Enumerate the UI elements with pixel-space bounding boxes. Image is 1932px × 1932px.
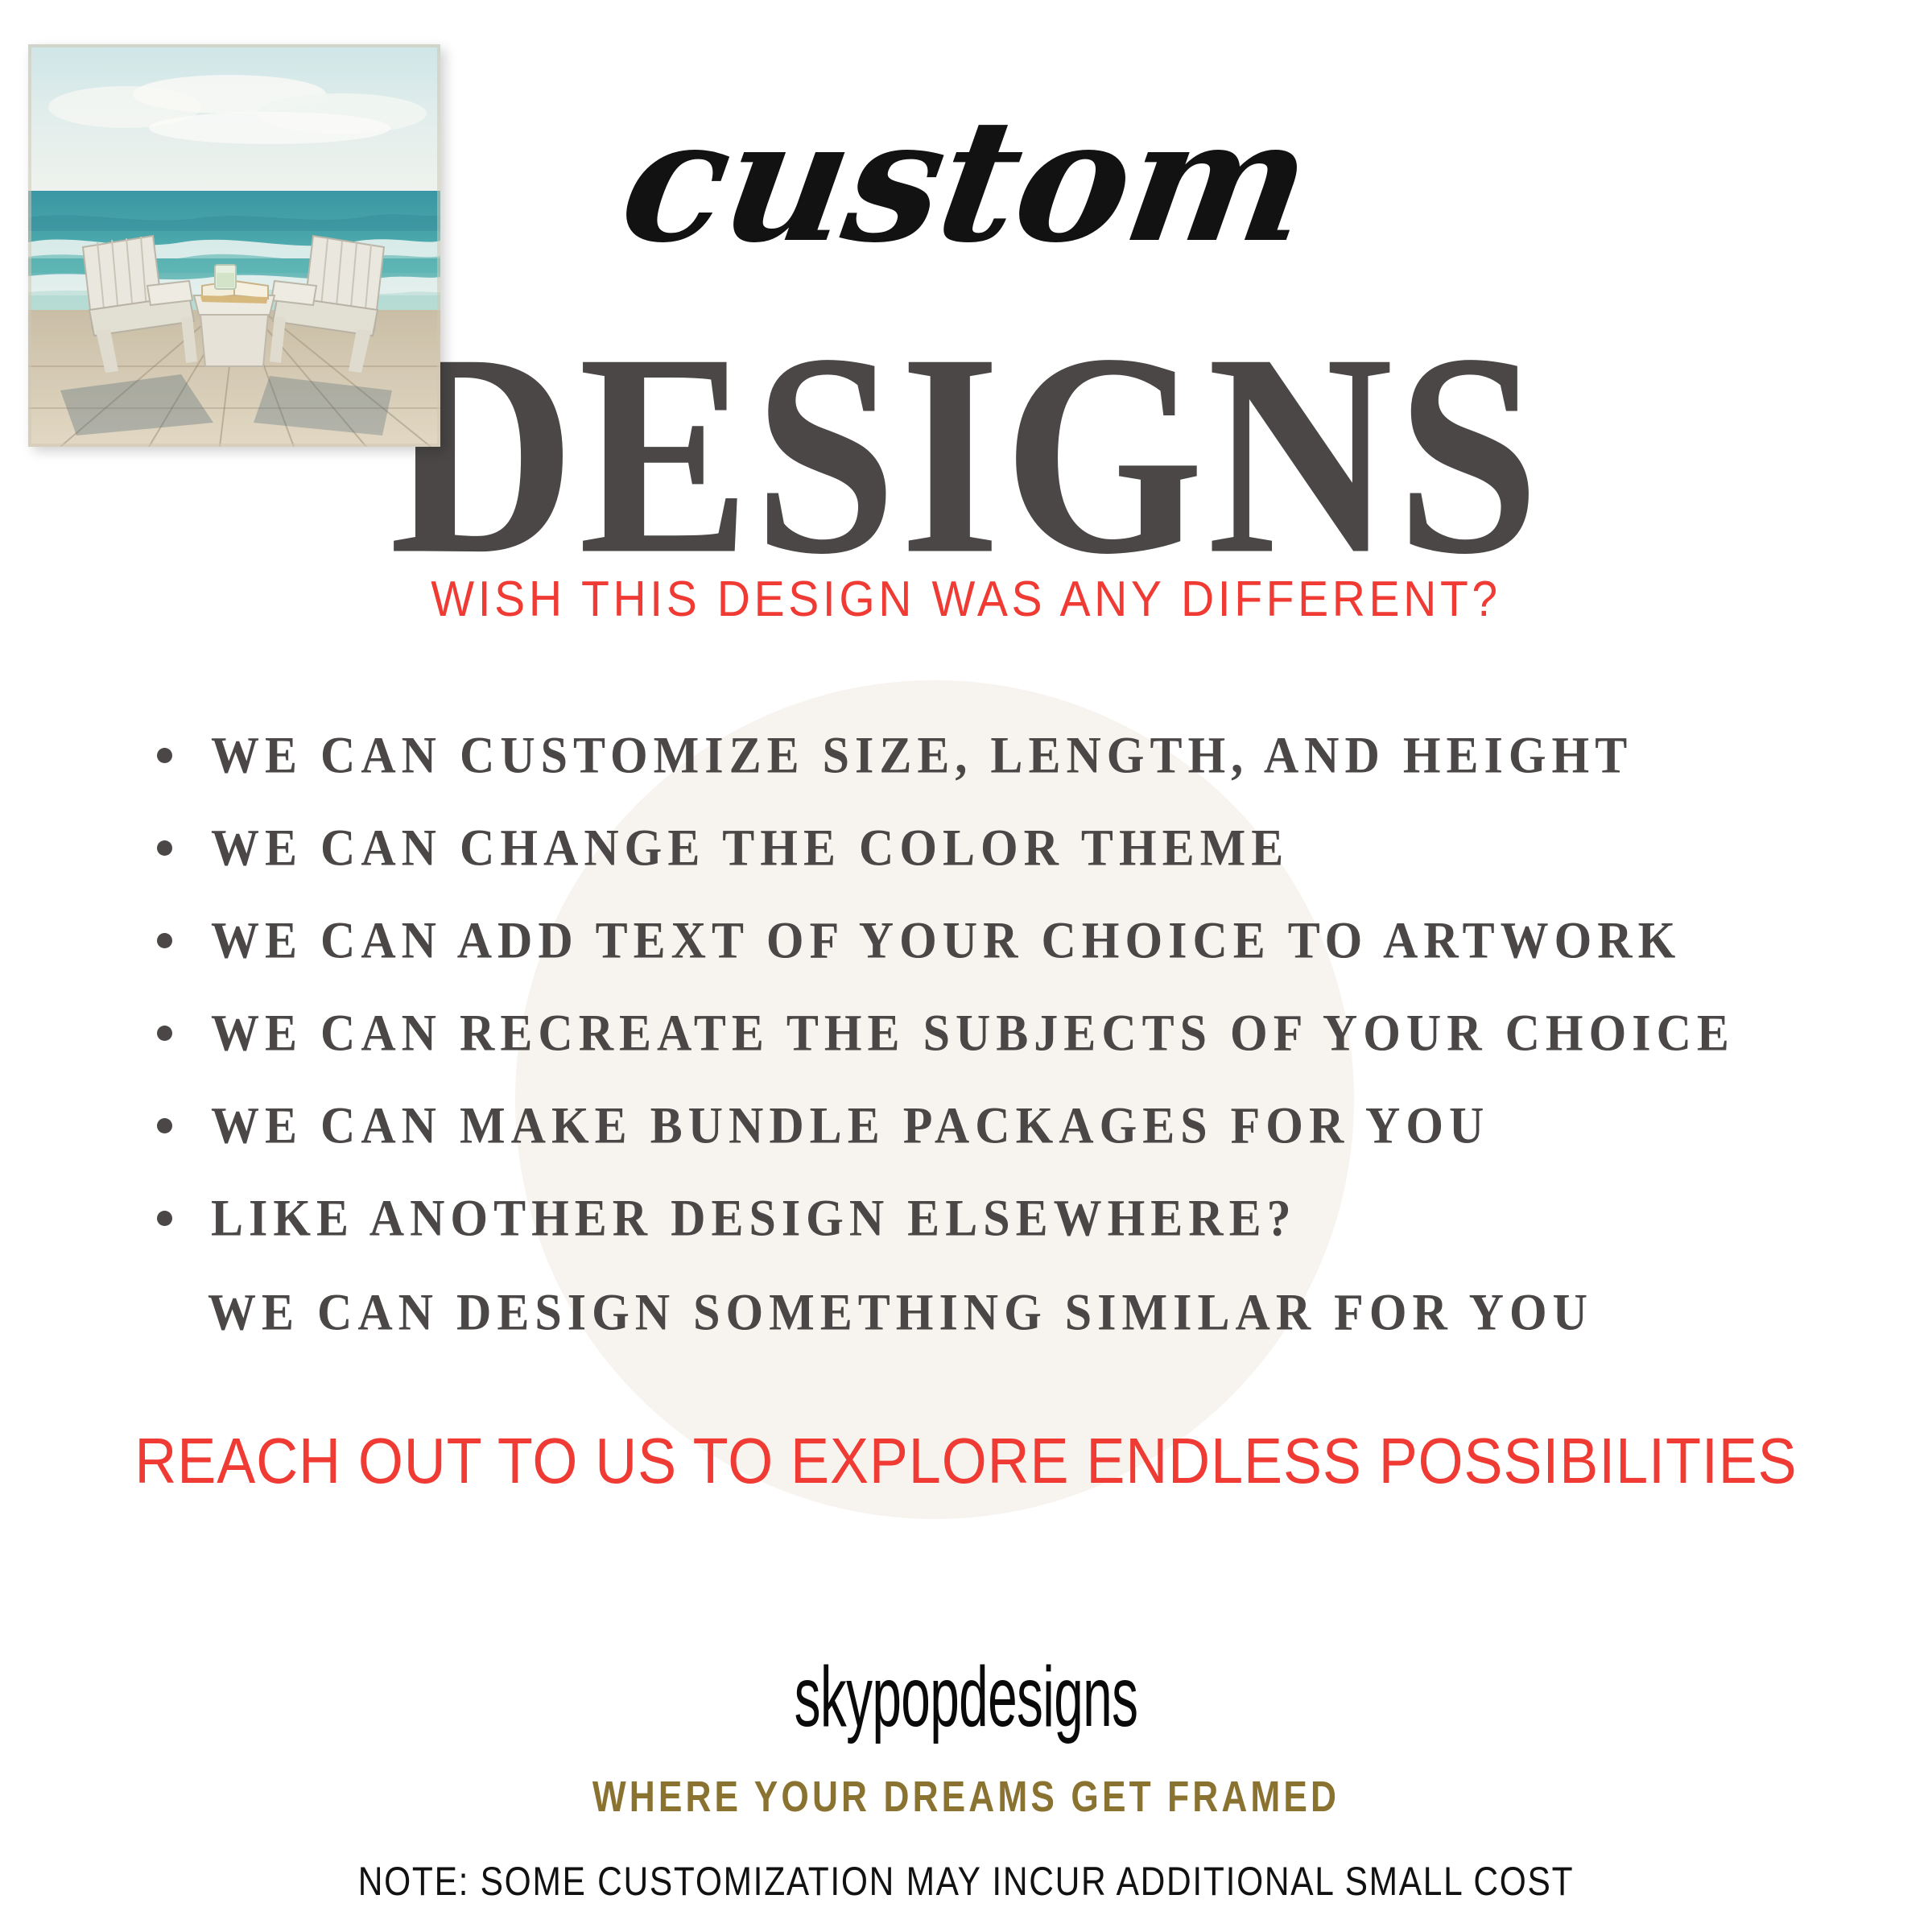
feature-continuation-label: WE CAN DESIGN SOMETHING SIMILAR FOR YOU [208, 1286, 1593, 1339]
bullet-dot-icon [157, 933, 172, 948]
bullet-dot-icon [157, 1211, 172, 1226]
list-item: WE CAN RECREATE THE SUBJECTS OF YOUR CHO… [157, 986, 1815, 1079]
list-item-label: WE CAN MAKE BUNDLE PACKAGES FOR YOU [211, 1099, 1489, 1151]
list-item-label: WE CAN RECREATE THE SUBJECTS OF YOUR CHO… [211, 1006, 1735, 1059]
feature-list: WE CAN CUSTOMIZE SIZE, LENGTH, AND HEIGH… [157, 708, 1815, 1264]
list-item: WE CAN MAKE BUNDLE PACKAGES FOR YOU [157, 1079, 1815, 1171]
list-item-label: WE CAN CUSTOMIZE SIZE, LENGTH, AND HEIGH… [211, 729, 1633, 781]
list-item-label: LIKE ANOTHER DESIGN ELSEWHERE? [211, 1191, 1297, 1244]
beach-chairs-painting-icon [28, 44, 440, 447]
footer-disclaimer-note: NOTE: SOME CUSTOMIZATION MAY INCUR ADDIT… [145, 1861, 1787, 1901]
brand-tagline: WHERE YOUR DREAMS GET FRAMED [174, 1775, 1758, 1818]
list-item: WE CAN CUSTOMIZE SIZE, LENGTH, AND HEIGH… [157, 708, 1815, 801]
custom-designs-poster: custom DESIGNS WISH THIS DESIGN WAS ANY … [0, 0, 1932, 1932]
headline-question: WISH THIS DESIGN WAS ANY DIFFERENT? [77, 575, 1855, 625]
bullet-dot-icon [157, 840, 172, 856]
product-artwork-thumbnail[interactable] [28, 44, 440, 447]
list-item: WE CAN CHANGE THE COLOR THEME [157, 801, 1815, 894]
list-item: WE CAN ADD TEXT OF YOUR CHOICE TO ARTWOR… [157, 894, 1815, 986]
bullet-dot-icon [157, 748, 172, 763]
bullet-dot-icon [157, 1026, 172, 1041]
list-item-label: WE CAN ADD TEXT OF YOUR CHOICE TO ARTWOR… [211, 914, 1681, 966]
call-to-action-text: REACH OUT TO US TO EXPLORE ENDLESS POSSI… [97, 1429, 1835, 1493]
bullet-dot-icon [157, 1118, 172, 1133]
list-item: LIKE ANOTHER DESIGN ELSEWHERE? [157, 1171, 1815, 1264]
brand-wordmark: skypopdesigns [367, 1654, 1565, 1740]
list-item-label: WE CAN CHANGE THE COLOR THEME [211, 821, 1289, 873]
